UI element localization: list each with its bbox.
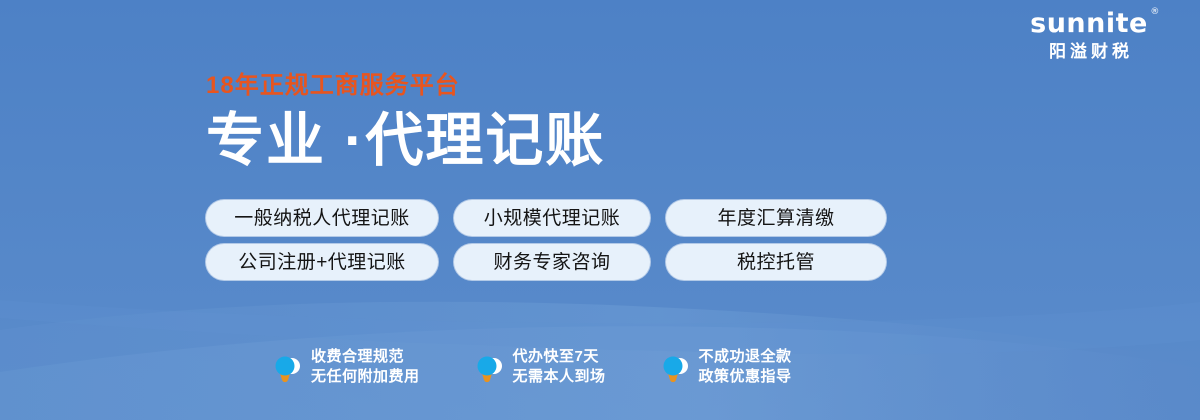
brand-logo: sunnite® 阳溢财税 (1004, 10, 1174, 62)
circle-dual-tone-icon (660, 351, 690, 383)
eyebrow-text: 18年正规工商服务平台 (206, 72, 605, 101)
feature-line-1: 不成功退全款 (699, 348, 792, 365)
logo-wordmark: sunnite® (1030, 10, 1148, 38)
feature-text-pricing: 收费合理规范 无任何附加费用 (311, 348, 420, 386)
service-pill-row-2: 公司注册+代理记账 财务专家咨询 税控托管 (206, 244, 886, 280)
feature-item-speed: 代办快至7天 无需本人到场 (474, 348, 606, 386)
service-pill-company-registration[interactable]: 公司注册+代理记账 (206, 244, 438, 280)
feature-line-2: 政策优惠指导 (699, 368, 792, 385)
feature-text-guarantee: 不成功退全款 政策优惠指导 (699, 348, 792, 386)
feature-line-1: 收费合理规范 (311, 348, 420, 365)
logo-chinese-name: 阳溢财税 (1004, 43, 1174, 62)
feature-line-2: 无任何附加费用 (311, 368, 420, 385)
service-pill-row-1: 一般纳税人代理记账 小规模代理记账 年度汇算清缴 (206, 200, 886, 236)
service-pill-small-scale[interactable]: 小规模代理记账 (454, 200, 650, 236)
service-pill-finance-consulting[interactable]: 财务专家咨询 (454, 244, 650, 280)
feature-line-1: 代办快至7天 (513, 348, 606, 365)
feature-text-speed: 代办快至7天 无需本人到场 (513, 348, 606, 386)
headline-block: 18年正规工商服务平台 专业 ·代理记账 (206, 72, 605, 174)
feature-line-2: 无需本人到场 (513, 368, 606, 385)
service-pill-tax-control-hosting[interactable]: 税控托管 (666, 244, 886, 280)
registered-trademark-icon: ® (1150, 8, 1160, 17)
circle-dual-tone-icon (474, 351, 504, 383)
service-pill-annual-settlement[interactable]: 年度汇算清缴 (666, 200, 886, 236)
promo-banner: sunnite® 阳溢财税 18年正规工商服务平台 专业 ·代理记账 一般纳税人… (0, 0, 1200, 420)
wave-upper (0, 300, 1200, 354)
feature-item-guarantee: 不成功退全款 政策优惠指导 (660, 348, 792, 386)
service-pill-general-taxpayer[interactable]: 一般纳税人代理记账 (206, 200, 438, 236)
feature-strip: 收费合理规范 无任何附加费用 代办快至7天 无需本人到场 不成功退全款 (272, 348, 792, 386)
service-pill-grid: 一般纳税人代理记账 小规模代理记账 年度汇算清缴 公司注册+代理记账 财务专家咨… (206, 200, 886, 280)
feature-item-pricing: 收费合理规范 无任何附加费用 (272, 348, 420, 386)
circle-dual-tone-icon (272, 351, 302, 383)
page-title: 专业 ·代理记账 (206, 109, 605, 174)
